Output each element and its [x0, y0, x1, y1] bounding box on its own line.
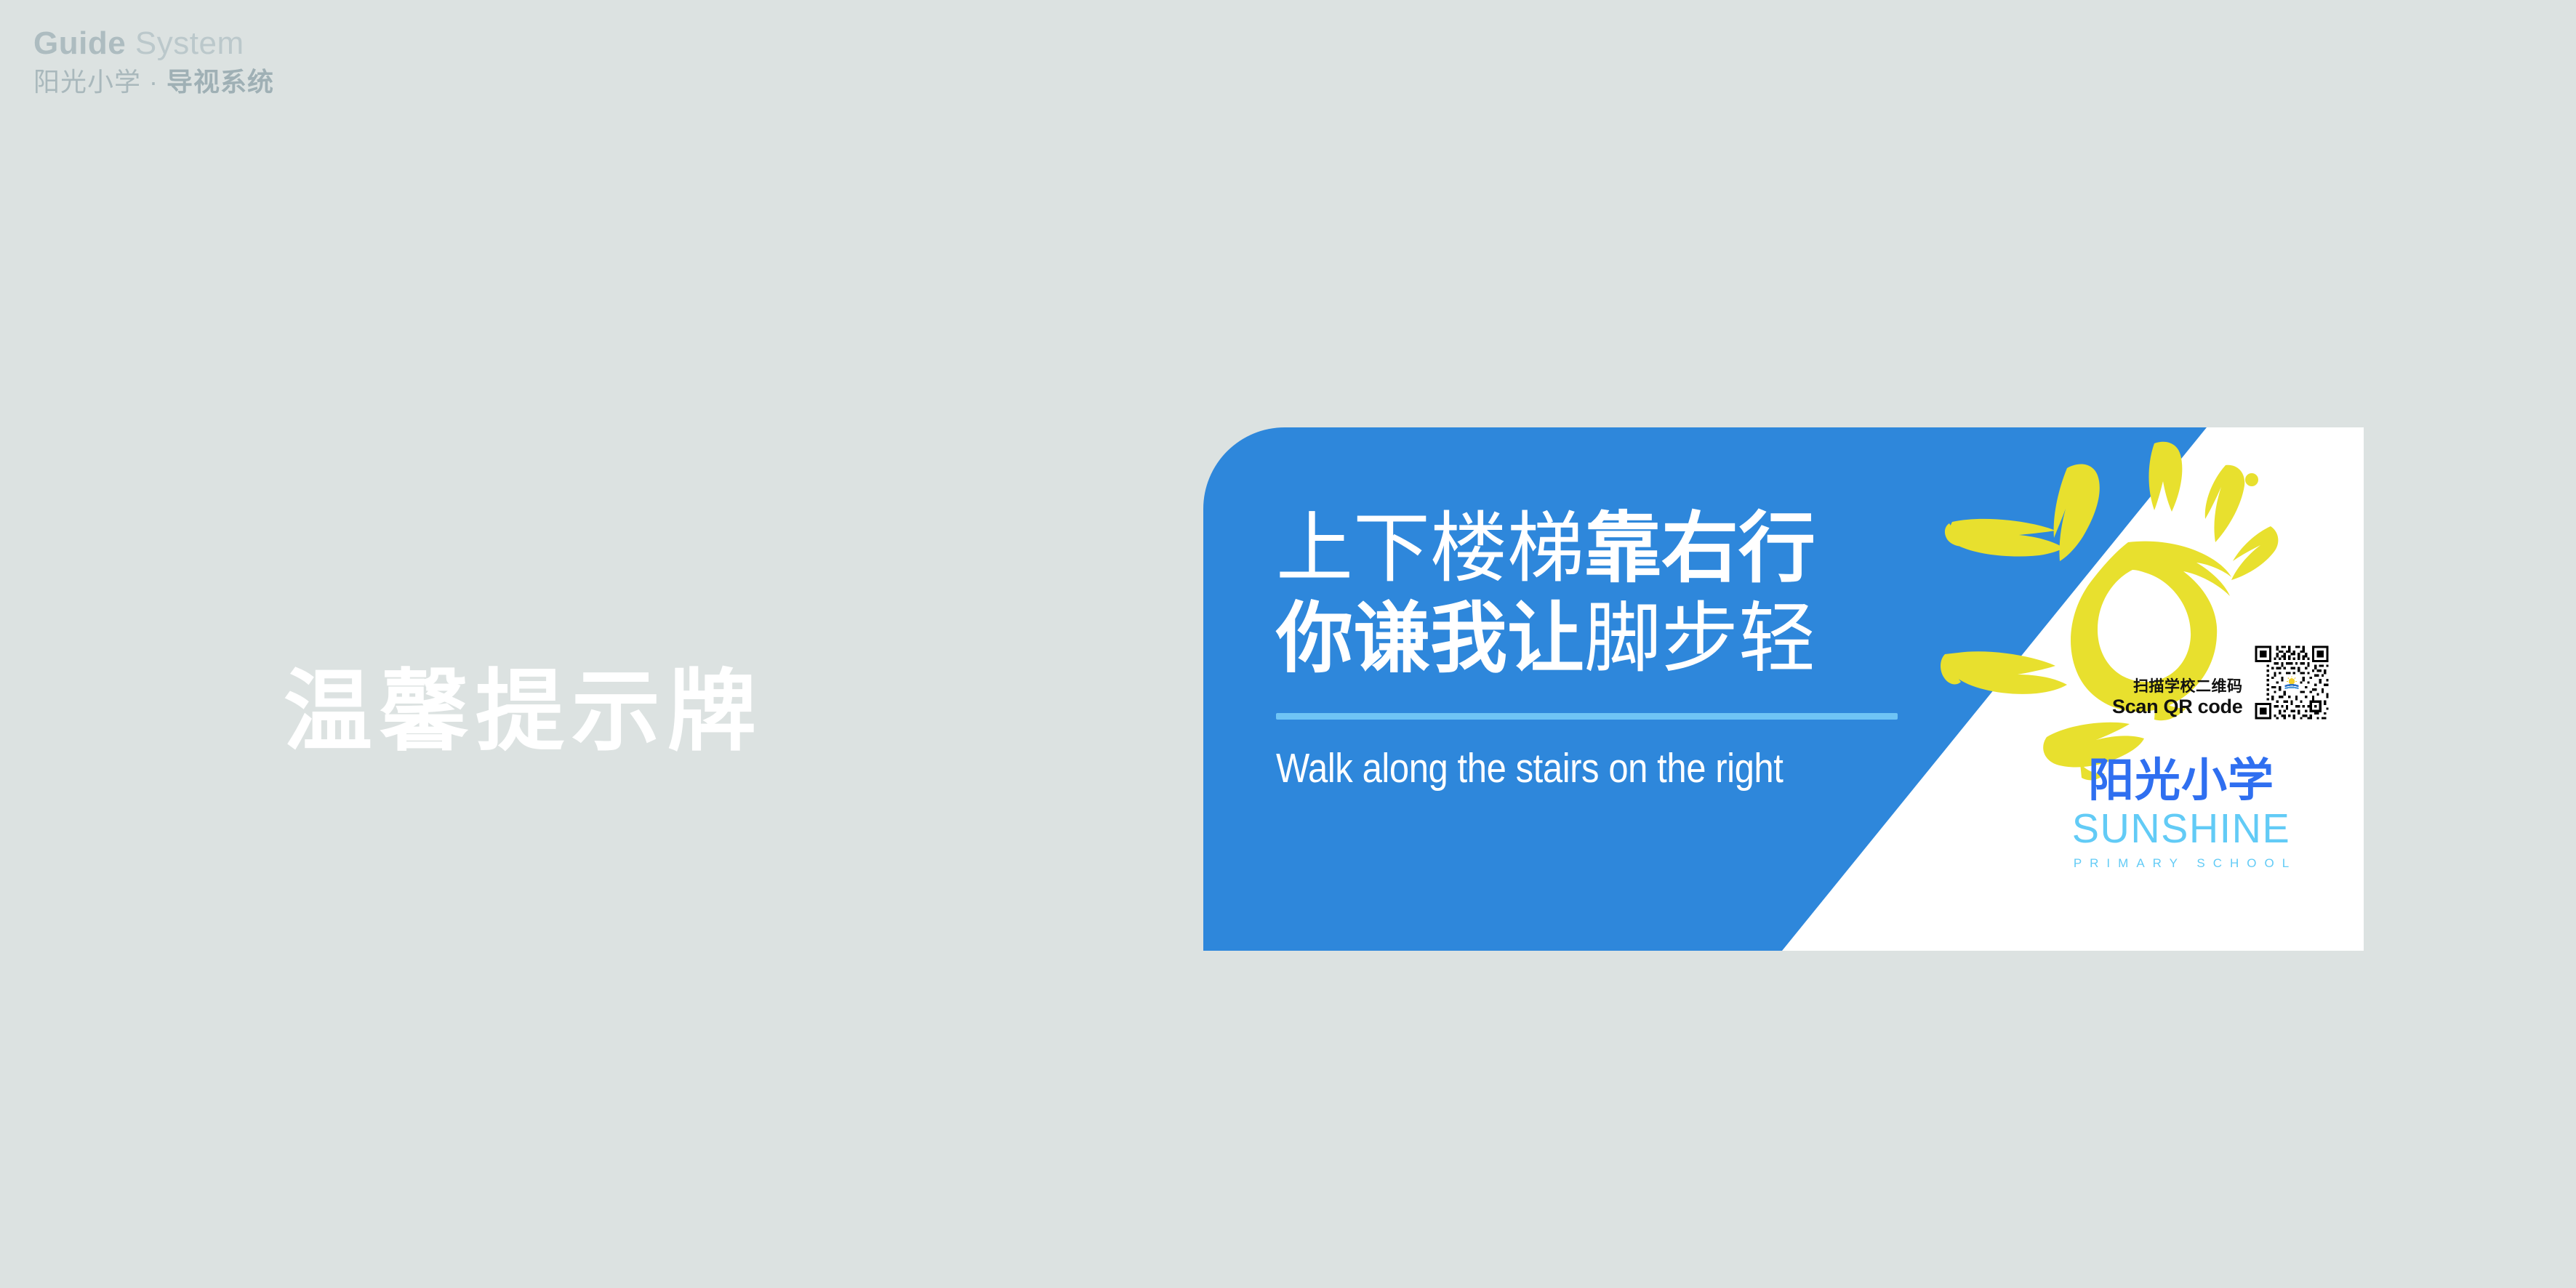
school-logo-cn: 阳光小学	[2061, 758, 2301, 804]
school-logo-en: SUNSHINE	[2063, 808, 2298, 850]
school-logo-subtitle: PRIMARY SCHOOL	[2061, 857, 2301, 869]
sign-text-block: 上下楼梯靠右行 你谦我让脚步轻 Walk along the stairs on…	[1276, 507, 2003, 792]
qr-label-cn: 扫描学校二维码	[2112, 678, 2242, 696]
header-title-cn-strong: 导视系统	[166, 67, 274, 97]
header-title-en: Guide System	[33, 28, 274, 60]
school-logo: 阳光小学 SUNSHINE PRIMARY SCHOOL	[2061, 758, 2301, 869]
qr-block: 扫描学校二维码 Scan QR code	[2112, 643, 2331, 722]
page-caption: 温馨提示牌	[284, 667, 763, 756]
sign-headline-line-2-bold: 你谦我让	[1276, 596, 1584, 682]
qr-code-icon[interactable]	[2252, 643, 2331, 722]
sign-headline-line-1: 上下楼梯靠右行	[1276, 507, 2003, 590]
sign-headline-line-1-thin: 上下楼梯	[1276, 506, 1584, 592]
header-title-cn: 阳光小学 · 导视系统	[33, 69, 274, 95]
sign-headline-line-2-thin: 脚步轻	[1584, 596, 1815, 682]
header-title-cn-light: 阳光小学 ·	[33, 67, 166, 97]
qr-labels: 扫描学校二维码 Scan QR code	[2112, 678, 2242, 722]
qr-label-en: Scan QR code	[2112, 696, 2242, 717]
sign-subtitle: Walk along the stairs on the right	[1276, 744, 1901, 792]
page-header: Guide System 阳光小学 · 导视系统	[33, 28, 274, 95]
header-title-en-strong: Guide	[33, 25, 126, 61]
sign-headline-line-1-bold: 靠右行	[1584, 506, 1815, 592]
sign-divider	[1276, 713, 1898, 720]
header-title-en-light: System	[126, 25, 244, 61]
sign-board: 上下楼梯靠右行 你谦我让脚步轻 Walk along the stairs on…	[1203, 427, 2364, 951]
sign-headline-line-2: 你谦我让脚步轻	[1276, 597, 2003, 680]
